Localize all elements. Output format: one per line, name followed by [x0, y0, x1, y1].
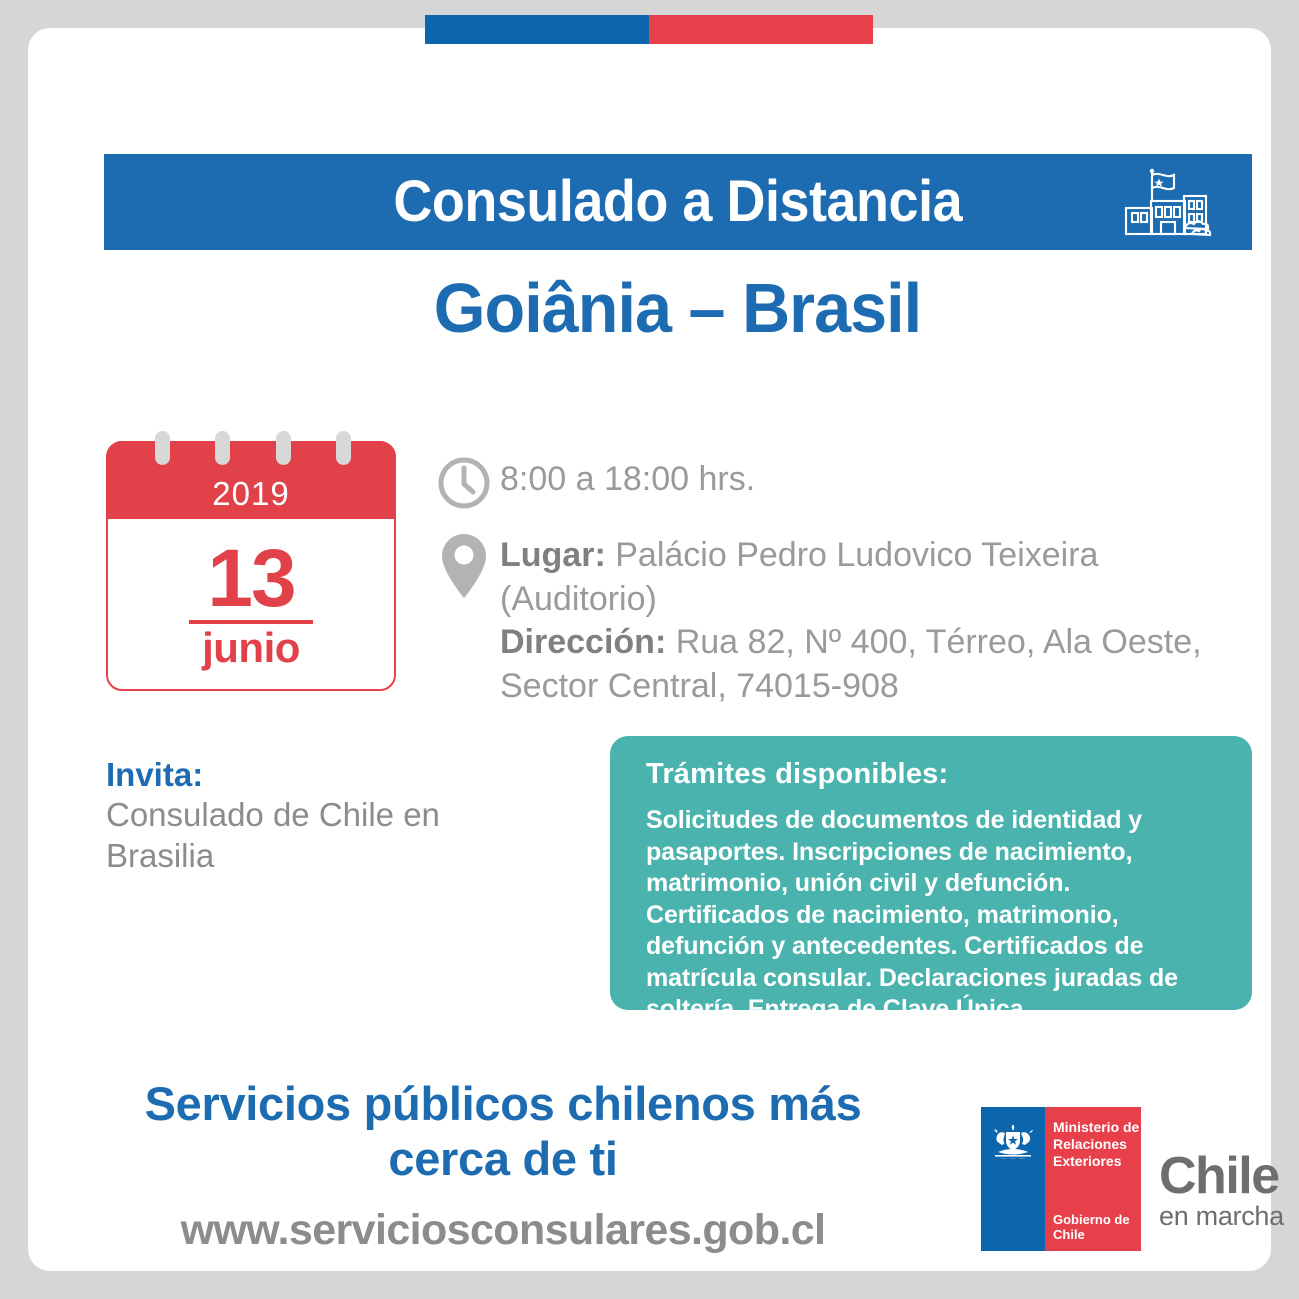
event-date-calendar: 2019 13 junio: [106, 441, 396, 691]
poster-canvas: Consulado a Distancia: [0, 0, 1299, 1299]
chile-tagline: en marcha: [1159, 1203, 1284, 1230]
event-location-text: Lugar: Palácio Pedro Ludovico Teixeira (…: [500, 530, 1258, 708]
footer-website[interactable]: www.serviciosconsulares.gob.cl: [108, 1206, 898, 1255]
page-title: Consulado a Distancia: [394, 173, 963, 231]
calendar-month: junio: [202, 627, 300, 669]
chile-wordmark: Chile: [1159, 1153, 1284, 1201]
event-place-line: Lugar: Palácio Pedro Ludovico Teixeira (…: [500, 534, 1258, 621]
calendar-rings: [108, 431, 398, 465]
calendar-ring: [215, 431, 230, 465]
event-location-row: Lugar: Palácio Pedro Ludovico Teixeira (…: [428, 530, 1258, 708]
gobierno-de-chile-label: Gobierno de Chile: [1053, 1212, 1141, 1242]
city-subtitle: Goiânia – Brasil: [60, 273, 1294, 343]
chile-coat-of-arms-icon: [989, 1121, 1037, 1163]
poster-card: Consulado a Distancia: [28, 28, 1271, 1271]
calendar-day: 13: [207, 541, 294, 616]
government-building-flag-icon: [1122, 168, 1214, 238]
flag-stripe-blue: [425, 15, 649, 44]
services-title: Trámites disponibles:: [646, 758, 1218, 791]
government-logo: Ministerio de Relaciones Exteriores Gobi…: [981, 1101, 1291, 1256]
gov-flag-blue: [981, 1107, 1045, 1251]
invita-label: Invita:: [106, 754, 546, 795]
gov-flag-block: Ministerio de Relaciones Exteriores Gobi…: [981, 1107, 1141, 1251]
calendar-ring: [336, 431, 351, 465]
calendar-year: 2019: [212, 475, 289, 513]
address-label: Dirección:: [500, 623, 666, 661]
invita-block: Invita: Consulado de Chile en Brasilia: [106, 754, 546, 876]
event-hours-row: 8:00 a 18:00 hrs.: [428, 454, 1258, 510]
event-details: 8:00 a 18:00 hrs. Lugar: Palácio Pedro L…: [428, 454, 1258, 708]
services-list: Solicitudes de documentos de identidad y…: [646, 805, 1218, 1026]
event-hours: 8:00 a 18:00 hrs.: [500, 454, 755, 502]
place-label: Lugar:: [500, 536, 606, 574]
event-address-line: Dirección: Rua 82, Nº 400, Térreo, Ala O…: [500, 621, 1258, 708]
header-band: Consulado a Distancia: [104, 154, 1252, 250]
calendar-ring: [276, 431, 291, 465]
chile-brand: Chile en marcha: [1159, 1127, 1284, 1230]
calendar-ring: [155, 431, 170, 465]
invita-value: Consulado de Chile en Brasilia: [106, 795, 546, 876]
clock-icon: [428, 454, 500, 510]
ministry-name: Ministerio de Relaciones Exteriores: [1053, 1119, 1141, 1170]
services-box: Trámites disponibles: Solicitudes de doc…: [610, 736, 1252, 1010]
chile-flag-stripe: [425, 15, 873, 44]
footer-slogan: Servicios públicos chilenos más cerca de…: [108, 1076, 898, 1187]
map-pin-icon: [428, 530, 500, 600]
flag-stripe-red: [649, 15, 873, 44]
calendar-body: 13 junio: [108, 521, 394, 689]
gov-flag-red: Ministerio de Relaciones Exteriores Gobi…: [1045, 1107, 1141, 1251]
